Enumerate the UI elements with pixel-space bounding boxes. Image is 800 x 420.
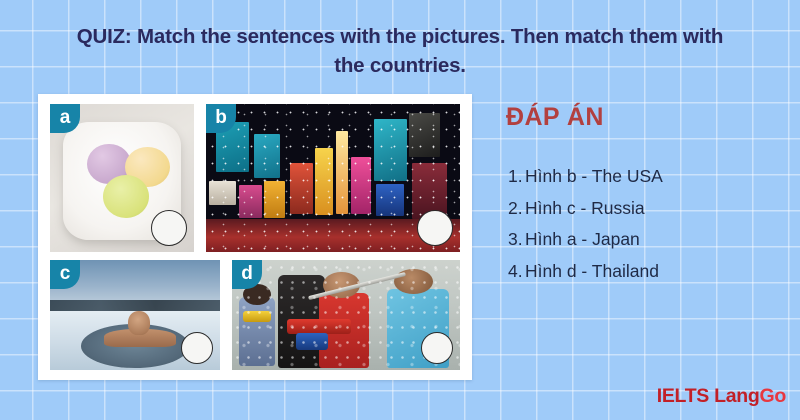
- picture-a[interactable]: a: [50, 104, 194, 252]
- answer-item: 1. Hình b - The USA: [508, 164, 768, 189]
- page-title: QUIZ: Match the sentences with the pictu…: [60, 22, 740, 80]
- circle-watermark: [421, 332, 453, 364]
- picture-b[interactable]: b: [206, 104, 460, 252]
- answer-text: Hình a - Japan: [525, 227, 640, 252]
- picture-c[interactable]: c: [50, 260, 220, 370]
- answer-number: 1.: [508, 164, 525, 189]
- picture-grid-card: a b: [38, 94, 472, 380]
- answer-list: 1. Hình b - The USA 2. Hình c - Russia 3…: [508, 164, 768, 291]
- answer-heading: ĐÁP ÁN: [506, 103, 604, 132]
- brand-logo: IELTS LangGo: [657, 385, 786, 408]
- answer-number: 3.: [508, 227, 525, 252]
- answer-number: 4.: [508, 259, 525, 284]
- swimmer-head: [128, 311, 150, 335]
- answer-text: Hình c - Russia: [525, 196, 645, 221]
- answer-text: Hình d - Thailand: [525, 259, 659, 284]
- circle-watermark: [181, 332, 213, 364]
- circle-watermark: [151, 210, 187, 246]
- picture-d[interactable]: d: [232, 260, 460, 370]
- answer-item: 3. Hình a - Japan: [508, 227, 768, 252]
- answer-item: 4. Hình d - Thailand: [508, 259, 768, 284]
- answer-text: Hình b - The USA: [525, 164, 663, 189]
- quiz-slide: QUIZ: Match the sentences with the pictu…: [0, 0, 800, 420]
- answer-item: 2. Hình c - Russia: [508, 196, 768, 221]
- mochi-green: [103, 175, 149, 218]
- circle-watermark: [417, 210, 453, 246]
- brand-logo-main: IELTS Lang: [657, 385, 760, 407]
- answer-number: 2.: [508, 196, 525, 221]
- brand-logo-accent: Go: [760, 385, 786, 407]
